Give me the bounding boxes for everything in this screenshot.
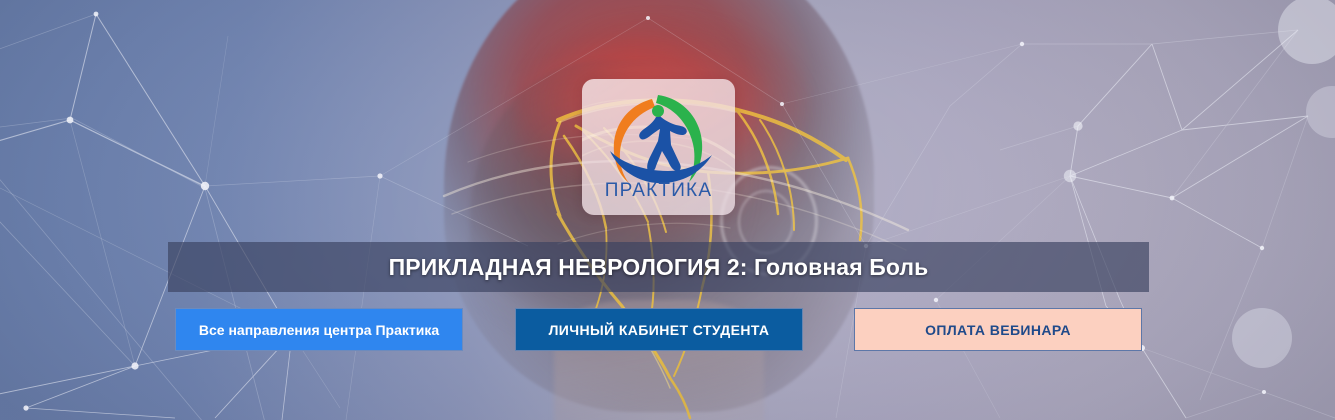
all-directions-button[interactable]: Все направления центра Практика xyxy=(175,308,463,351)
praktika-wordmark: ПРАКТИКА xyxy=(582,180,735,202)
praktika-logo-mark xyxy=(600,89,718,185)
student-cabinet-button[interactable]: ЛИЧНЫЙ КАБИНЕТ СТУДЕНТА xyxy=(515,308,803,351)
praktika-logo-card[interactable]: ПРАКТИКА xyxy=(582,79,735,215)
hero-banner: ПРАКТИКА ПРИКЛАДНАЯ НЕВРОЛОГИЯ 2: Головн… xyxy=(0,0,1335,420)
hero-title-bar: ПРИКЛАДНАЯ НЕВРОЛОГИЯ 2: Головная Боль xyxy=(168,242,1149,292)
page-title: ПРИКЛАДНАЯ НЕВРОЛОГИЯ 2: Головная Боль xyxy=(389,254,929,281)
webinar-payment-button[interactable]: ОПЛАТА ВЕБИНАРА xyxy=(854,308,1142,351)
